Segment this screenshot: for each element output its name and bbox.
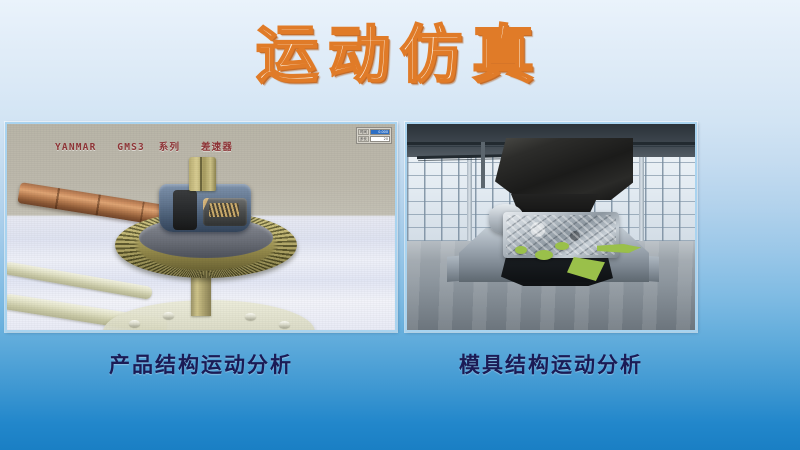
simulation-hud[interactable]: 时间 0.000 步长 20 [356,127,392,144]
title-container: 运动仿真 [0,24,800,86]
hud-row-time[interactable]: 时间 0.000 [358,129,390,135]
cad-render-grain [7,124,395,330]
flange-bolt [151,330,162,332]
cad-viewport: YANMAR GMS3 系列 差速器 时间 0.000 步长 20 [7,124,395,330]
right-image-panel[interactable] [405,122,697,332]
mold-upper-die [495,138,633,200]
roof-support-column [481,142,485,188]
left-image-panel[interactable]: YANMAR GMS3 系列 差速器 时间 0.000 步长 20 [5,122,397,332]
mold-ejector-green-pin [555,242,569,250]
factory-photo [407,124,695,330]
hud-row-step[interactable]: 步长 20 [358,136,390,142]
left-panel-caption: 产品结构运动分析 [5,350,397,380]
page-title: 运动仿真 [250,24,550,86]
right-panel-caption: 模具结构运动分析 [405,350,697,380]
hud-time-label: 时间 [358,129,369,135]
cad-model-title: YANMAR GMS3 系列 差速器 [55,139,233,153]
mold-ejector-green-pin [515,246,527,254]
mold-ejector-green-pin [535,250,553,260]
hud-time-value: 0.000 [370,129,390,135]
hud-step-value: 20 [370,136,390,142]
hud-step-label: 步长 [358,136,369,142]
